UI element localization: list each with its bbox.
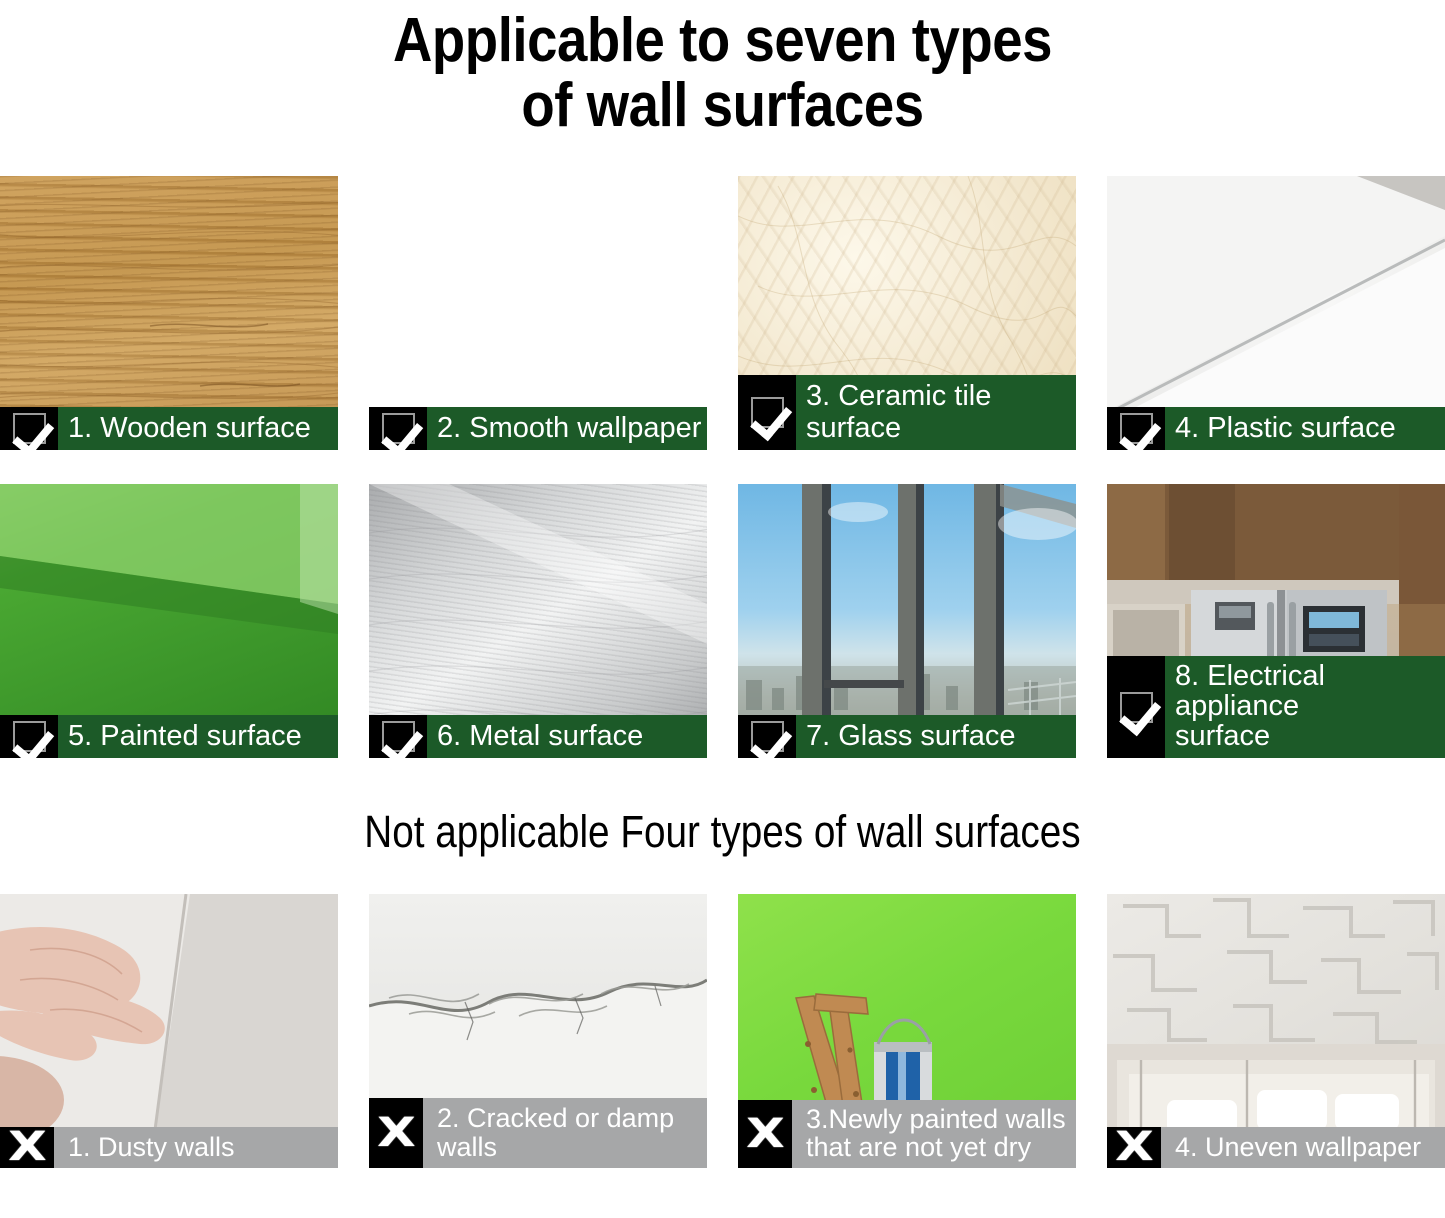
label-bar-wooden: 1. Wooden surface bbox=[0, 407, 338, 450]
surface-label-text: 7. Glass surface bbox=[796, 715, 1076, 758]
bad-surface-label-text: 1. Dusty walls bbox=[54, 1127, 338, 1168]
x-mark-box: X bbox=[0, 1127, 54, 1168]
bad-surface-label-text: 4. Uneven wallpaper bbox=[1161, 1127, 1445, 1168]
surface-tile-ceramic[interactable]: 3. Ceramic tile surface bbox=[738, 176, 1076, 450]
checkmark-icon bbox=[382, 413, 415, 444]
surface-label-text: 6. Metal surface bbox=[427, 715, 707, 758]
surface-label-text: 5. Painted surface bbox=[58, 715, 338, 758]
section-subtitle: Not applicable Four types of wall surfac… bbox=[364, 808, 1080, 855]
surface-label-text: 2. Smooth wallpaper bbox=[427, 407, 707, 450]
surface-label-text: 1. Wooden surface bbox=[58, 407, 338, 450]
label-bar-cracked: X 2. Cracked or damp walls bbox=[369, 1098, 707, 1168]
applicable-row-1: 1. Wooden surface bbox=[0, 176, 1445, 450]
checkmark-icon bbox=[13, 721, 46, 752]
surface-label-text: 4. Plastic surface bbox=[1165, 407, 1445, 450]
checkmark-box bbox=[369, 715, 427, 758]
label-bar-dusty: X 1. Dusty walls bbox=[0, 1127, 338, 1168]
checkmark-box bbox=[1107, 656, 1165, 758]
x-mark-icon: X bbox=[377, 1113, 416, 1153]
surface-tile-wooden[interactable]: 1. Wooden surface bbox=[0, 176, 338, 450]
surface-label-text: 3. Ceramic tile surface bbox=[796, 375, 1076, 450]
checkmark-icon bbox=[1120, 692, 1153, 723]
not-applicable-row: X 1. Dusty walls bbox=[0, 894, 1445, 1174]
label-bar-metal: 6. Metal surface bbox=[369, 715, 707, 758]
label-bar-ceramic: 3. Ceramic tile surface bbox=[738, 375, 1076, 450]
bad-surface-tile-newly-painted[interactable]: X 3.Newly painted walls that are not yet… bbox=[738, 894, 1076, 1168]
surface-tile-plastic[interactable]: 4. Plastic surface bbox=[1107, 176, 1445, 450]
surface-tile-painted[interactable]: 5. Painted surface bbox=[0, 484, 338, 758]
checkmark-icon bbox=[751, 397, 784, 428]
x-mark-box: X bbox=[738, 1100, 792, 1168]
checkmark-icon bbox=[382, 721, 415, 752]
x-mark-icon: X bbox=[1115, 1127, 1154, 1167]
x-mark-box: X bbox=[369, 1098, 423, 1168]
bad-surface-tile-dusty[interactable]: X 1. Dusty walls bbox=[0, 894, 338, 1168]
label-bar-electrical-appliance: 8. Electrical appliance surface bbox=[1107, 656, 1445, 758]
surface-tile-electrical-appliance[interactable]: 8. Electrical appliance surface bbox=[1107, 484, 1445, 758]
checkmark-box bbox=[1107, 407, 1165, 450]
surface-tile-smooth-wallpaper[interactable]: 2. Smooth wallpaper bbox=[369, 176, 707, 450]
label-bar-smooth-wallpaper: 2. Smooth wallpaper bbox=[369, 407, 707, 450]
x-mark-box: X bbox=[1107, 1127, 1161, 1168]
applicable-row-2: 5. Painted surface 6. Metal surface bbox=[0, 484, 1445, 770]
label-bar-painted: 5. Painted surface bbox=[0, 715, 338, 758]
bad-surface-label-text: 3.Newly painted walls that are not yet d… bbox=[792, 1100, 1076, 1168]
bad-surface-tile-uneven-wallpaper[interactable]: X 4. Uneven wallpaper bbox=[1107, 894, 1445, 1168]
surface-label-text: 8. Electrical appliance surface bbox=[1165, 656, 1445, 758]
checkmark-box bbox=[738, 375, 796, 450]
label-bar-plastic: 4. Plastic surface bbox=[1107, 407, 1445, 450]
checkmark-box bbox=[0, 407, 58, 450]
checkmark-icon bbox=[1120, 413, 1153, 444]
checkmark-icon bbox=[751, 721, 784, 752]
label-bar-glass: 7. Glass surface bbox=[738, 715, 1076, 758]
label-bar-newly-painted: X 3.Newly painted walls that are not yet… bbox=[738, 1100, 1076, 1168]
surface-tile-glass[interactable]: 7. Glass surface bbox=[738, 484, 1076, 758]
label-bar-uneven-wallpaper: X 4. Uneven wallpaper bbox=[1107, 1127, 1445, 1168]
page-title: Applicable to seven types of wall surfac… bbox=[87, 0, 1359, 138]
checkmark-icon bbox=[13, 413, 46, 444]
checkmark-box bbox=[0, 715, 58, 758]
x-mark-icon: X bbox=[8, 1127, 47, 1167]
checkmark-box bbox=[369, 407, 427, 450]
checkmark-box bbox=[738, 715, 796, 758]
x-mark-icon: X bbox=[746, 1114, 785, 1154]
bad-surface-tile-cracked[interactable]: X 2. Cracked or damp walls bbox=[369, 894, 707, 1168]
bad-surface-label-text: 2. Cracked or damp walls bbox=[423, 1098, 707, 1168]
surface-tile-metal[interactable]: 6. Metal surface bbox=[369, 484, 707, 758]
